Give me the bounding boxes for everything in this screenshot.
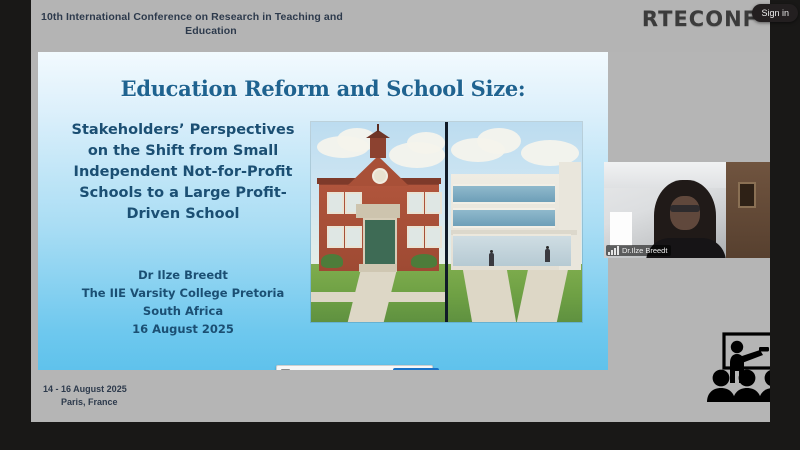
school-comparison-image	[311, 122, 582, 322]
presenter-institution: The IIE Varsity College Pretoria	[52, 284, 314, 302]
conference-title-line1: 10th International Conference on Researc…	[41, 11, 343, 23]
image-divider	[445, 122, 448, 322]
conference-header: 10th International Conference on Researc…	[31, 0, 770, 52]
presenter-country: South Africa	[52, 302, 314, 320]
sign-in-button[interactable]: Sign in	[752, 4, 798, 22]
presenter-name: Dr Ilze Breedt	[52, 266, 314, 284]
conference-title-line2: Education	[41, 24, 381, 38]
slide-subtitle-line: Driven School	[52, 204, 314, 225]
participant-name: Dr.Ilze Breedt	[622, 246, 667, 255]
screen-share-icon	[281, 369, 290, 370]
participant-name-badge: Dr.Ilze Breedt	[606, 245, 671, 256]
presentation-page: 10th International Conference on Researc…	[31, 0, 770, 422]
webcam-video-tile[interactable]: Dr.Ilze Breedt	[604, 162, 770, 258]
conference-title: 10th International Conference on Researc…	[41, 10, 381, 38]
conference-location: Paris, France	[43, 396, 127, 409]
screen-share-notification: app.zoom.us is sharing your screen. Stop…	[276, 365, 433, 370]
window-light	[610, 212, 632, 246]
app-window: 10th International Conference on Researc…	[0, 0, 800, 450]
conference-footer: 14 - 16 August 2025 Paris, France	[43, 383, 127, 409]
signal-bars-icon	[608, 246, 619, 255]
slide-subtitle-line: Independent Not-for-Profit	[52, 162, 314, 183]
classroom-teaching-icon	[706, 330, 770, 404]
stop-sharing-button[interactable]: Stop sharing	[393, 368, 439, 371]
glasses	[670, 205, 700, 212]
presenter-date: 16 August 2025	[52, 320, 314, 338]
traditional-school-photo	[311, 122, 446, 322]
slide-subtitle-line: on the Shift from Small	[52, 141, 314, 162]
picture-frame	[738, 182, 756, 208]
slide-canvas: Education Reform and School Size: Stakeh…	[38, 52, 608, 370]
presenter-block: Dr Ilze Breedt The IIE Varsity College P…	[52, 266, 314, 338]
slide-subtitle-line: Schools to a Large Profit-	[52, 183, 314, 204]
slide-subtitle-line: Stakeholders’ Perspectives	[52, 120, 314, 141]
slide-subtitle: Stakeholders’ Perspectives on the Shift …	[52, 120, 314, 225]
slide-title: Education Reform and School Size:	[38, 76, 608, 101]
rteconf-logo: RTECONF	[642, 7, 758, 31]
modern-school-photo	[447, 122, 582, 322]
conference-dates: 14 - 16 August 2025	[43, 384, 127, 394]
